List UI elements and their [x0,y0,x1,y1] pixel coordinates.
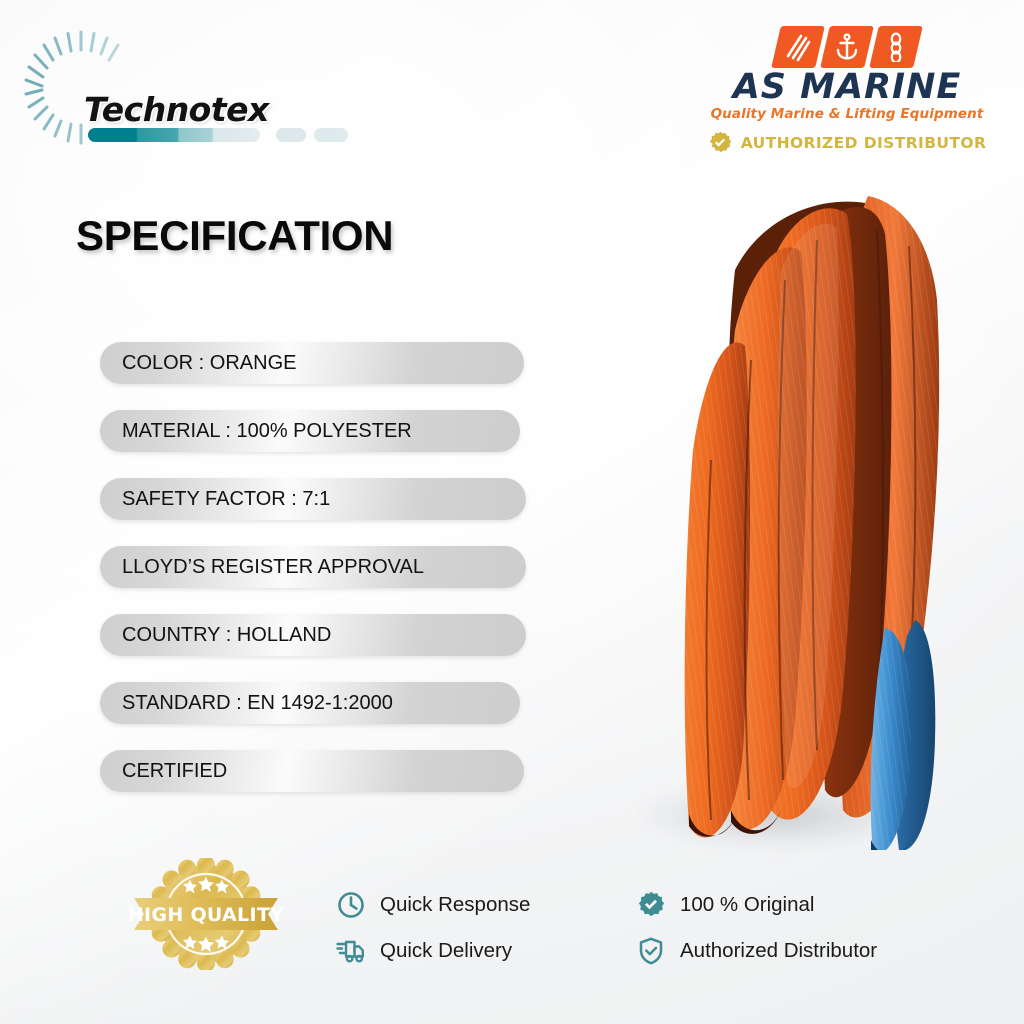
chain-icon [869,26,923,68]
technotex-bar-graphic [88,128,328,142]
clock-icon [336,890,366,920]
spec-item-label: COUNTRY : HOLLAND [122,624,331,647]
specification-list: COLOR : ORANGE MATERIAL : 100% POLYESTER… [100,342,500,818]
feature-list: Quick Response 100 % Original [336,882,956,974]
as-marine-logo: AS MARINE Quality Marine & Lifting Equip… [702,26,992,156]
spec-item-color: COLOR : ORANGE [100,342,524,384]
technotex-wordmark: Technotex [84,90,269,129]
poster-canvas: Technotex [0,0,1024,1024]
feature-label: Authorized Distributor [680,939,877,963]
feature-100-original: 100 % Original [636,882,956,928]
feature-authorized-distributor: Authorized Distributor [636,928,956,974]
bar-segment-3 [314,128,348,142]
page-title: SPECIFICATION [76,212,393,260]
anchor-icon [820,26,874,68]
spec-item-label: CERTIFIED [122,760,227,783]
feature-quick-delivery: Quick Delivery [336,928,636,974]
feature-label: Quick Response [380,893,530,917]
high-quality-badge: HIGH QUALITY [128,858,284,970]
check-badge-icon [636,890,666,920]
feature-label: 100 % Original [680,893,814,917]
delivery-truck-icon [336,936,366,966]
bar-segment-2 [276,128,306,142]
feature-quick-response: Quick Response [336,882,636,928]
spec-item-standard: STANDARD : EN 1492-1:2000 [100,682,520,724]
spec-item-label: SAFETY FACTOR : 7:1 [122,488,330,511]
feature-label: Quick Delivery [380,939,512,963]
webbing-icon [771,26,825,68]
spec-item-safety-factor: SAFETY FACTOR : 7:1 [100,478,526,520]
as-marine-tagline: Quality Marine & Lifting Equipment [702,106,992,122]
spec-item-lloyds-approval: LLOYD’S REGISTER APPROVAL [100,546,526,588]
bar-segment-main [88,128,260,142]
technotex-logo: Technotex [22,28,322,153]
spec-item-label: STANDARD : EN 1492-1:2000 [122,692,393,715]
spec-item-certified: CERTIFIED [100,750,524,792]
as-marine-icon-row [702,26,992,68]
spec-item-label: MATERIAL : 100% POLYESTER [122,420,412,443]
spec-item-label: COLOR : ORANGE [122,352,296,375]
as-marine-wordmark: AS MARINE [702,70,992,105]
shield-check-icon [636,936,666,966]
spec-item-label: LLOYD’S REGISTER APPROVAL [122,556,424,579]
spec-item-material: MATERIAL : 100% POLYESTER [100,410,520,452]
product-image-webbing-sling [585,150,1005,850]
high-quality-label: HIGH QUALITY [128,904,284,926]
spec-item-country: COUNTRY : HOLLAND [100,614,526,656]
